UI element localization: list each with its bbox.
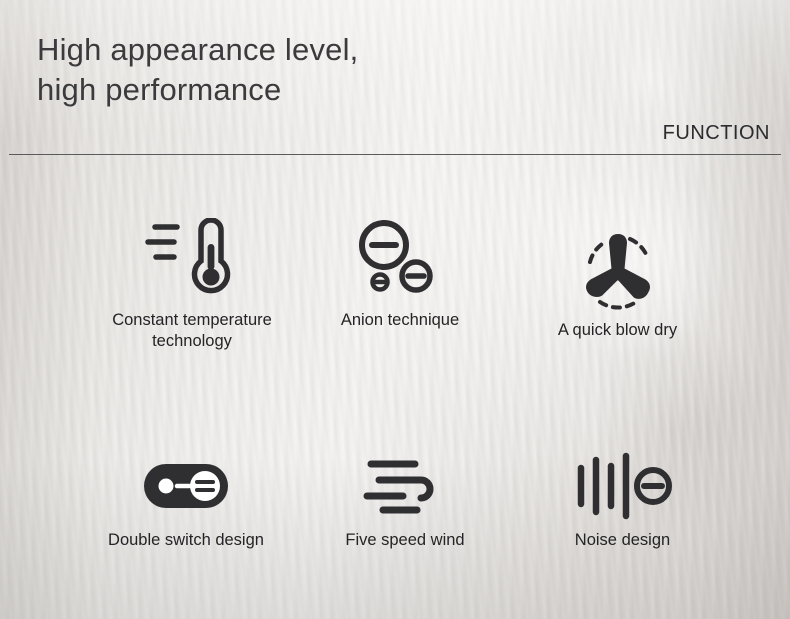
page-title: High appearance level, high performance <box>37 30 359 110</box>
feature-label: Anion technique <box>300 310 500 331</box>
feature-constant-temperature: Constant temperature technology <box>62 218 322 352</box>
thermometer-icon <box>62 218 322 300</box>
fan-blades-icon <box>520 228 715 310</box>
header-divider <box>9 154 781 155</box>
feature-five-speed-wind: Five speed wind <box>305 438 505 551</box>
feature-label: Noise design <box>525 530 720 551</box>
promo-page: High appearance level, high performance … <box>0 0 790 619</box>
feature-double-switch-design: Double switch design <box>70 438 302 551</box>
sound-bars-mute-icon <box>525 438 720 520</box>
feature-quick-blow-dry: A quick blow dry <box>520 228 715 341</box>
toggle-switch-icon <box>70 438 302 520</box>
feature-label: Constant temperature technology <box>62 310 322 352</box>
feature-label: Double switch design <box>70 530 302 551</box>
feature-noise-design: Noise design <box>525 438 720 551</box>
feature-label: Five speed wind <box>305 530 505 551</box>
anion-circles-icon <box>300 218 500 300</box>
wind-lines-icon <box>305 438 505 520</box>
feature-label: A quick blow dry <box>520 320 715 341</box>
section-label: FUNCTION <box>663 122 770 145</box>
feature-anion-technique: Anion technique <box>300 218 500 331</box>
